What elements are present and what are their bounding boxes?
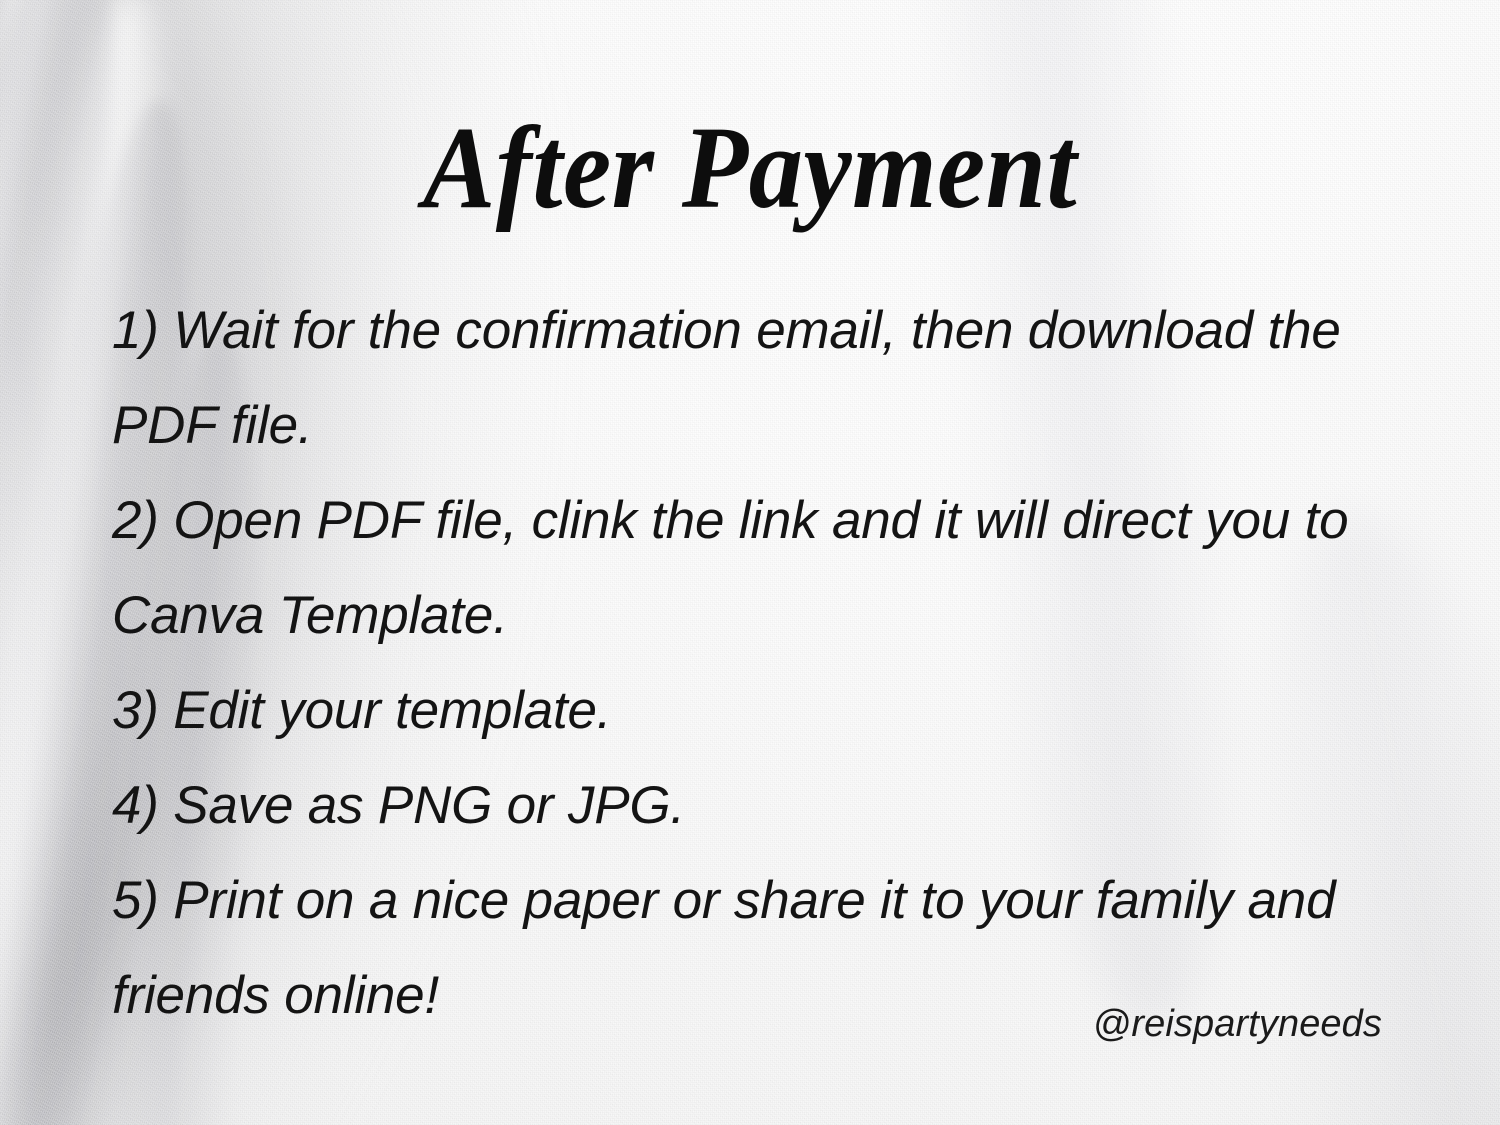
instruction-line: 2) Open PDF file, clink the link and it …: [112, 473, 1442, 568]
social-handle-watermark: @reispartyneeds: [1093, 1005, 1382, 1043]
instruction-list: 1) Wait for the confirmation email, then…: [112, 283, 1442, 1043]
instruction-line: 3) Edit your template.: [112, 663, 1442, 758]
slide-canvas: After Payment 1) Wait for the confirmati…: [0, 0, 1500, 1125]
page-title: After Payment: [60, 104, 1440, 231]
slide-content: After Payment 1) Wait for the confirmati…: [0, 0, 1500, 1125]
instruction-line: PDF file.: [112, 378, 1442, 473]
instruction-line: 1) Wait for the confirmation email, then…: [112, 283, 1442, 378]
instruction-line: 4) Save as PNG or JPG.: [112, 758, 1442, 853]
instruction-line: Canva Template.: [112, 568, 1442, 663]
instruction-line: 5) Print on a nice paper or share it to …: [112, 853, 1442, 948]
